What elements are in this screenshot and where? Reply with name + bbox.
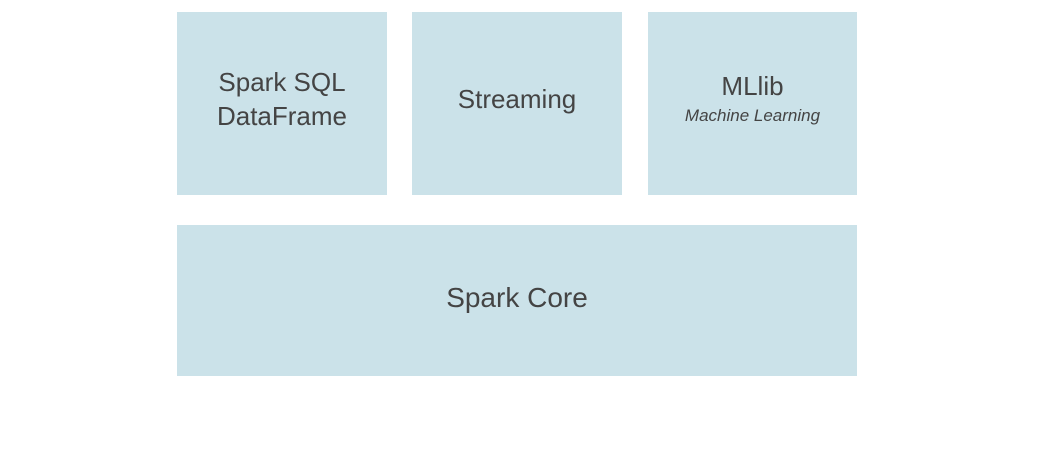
block-spark-sql[interactable]: Spark SQL DataFrame	[177, 12, 387, 195]
block-spark-sql-title: Spark SQL DataFrame	[217, 66, 347, 142]
block-spark-core[interactable]: Spark Core	[177, 225, 857, 376]
diagram-canvas: Spark SQL DataFrame Streaming MLlib Mach…	[0, 0, 1053, 457]
block-mllib[interactable]: MLlib Machine Learning	[648, 12, 857, 195]
block-mllib-text-stack: MLlib Machine Learning	[685, 70, 820, 136]
block-mllib-title: MLlib	[721, 70, 783, 104]
block-streaming-title: Streaming	[458, 83, 577, 125]
block-streaming[interactable]: Streaming	[412, 12, 622, 195]
block-mllib-subtitle: Machine Learning	[685, 105, 820, 126]
block-spark-core-title: Spark Core	[446, 280, 588, 320]
